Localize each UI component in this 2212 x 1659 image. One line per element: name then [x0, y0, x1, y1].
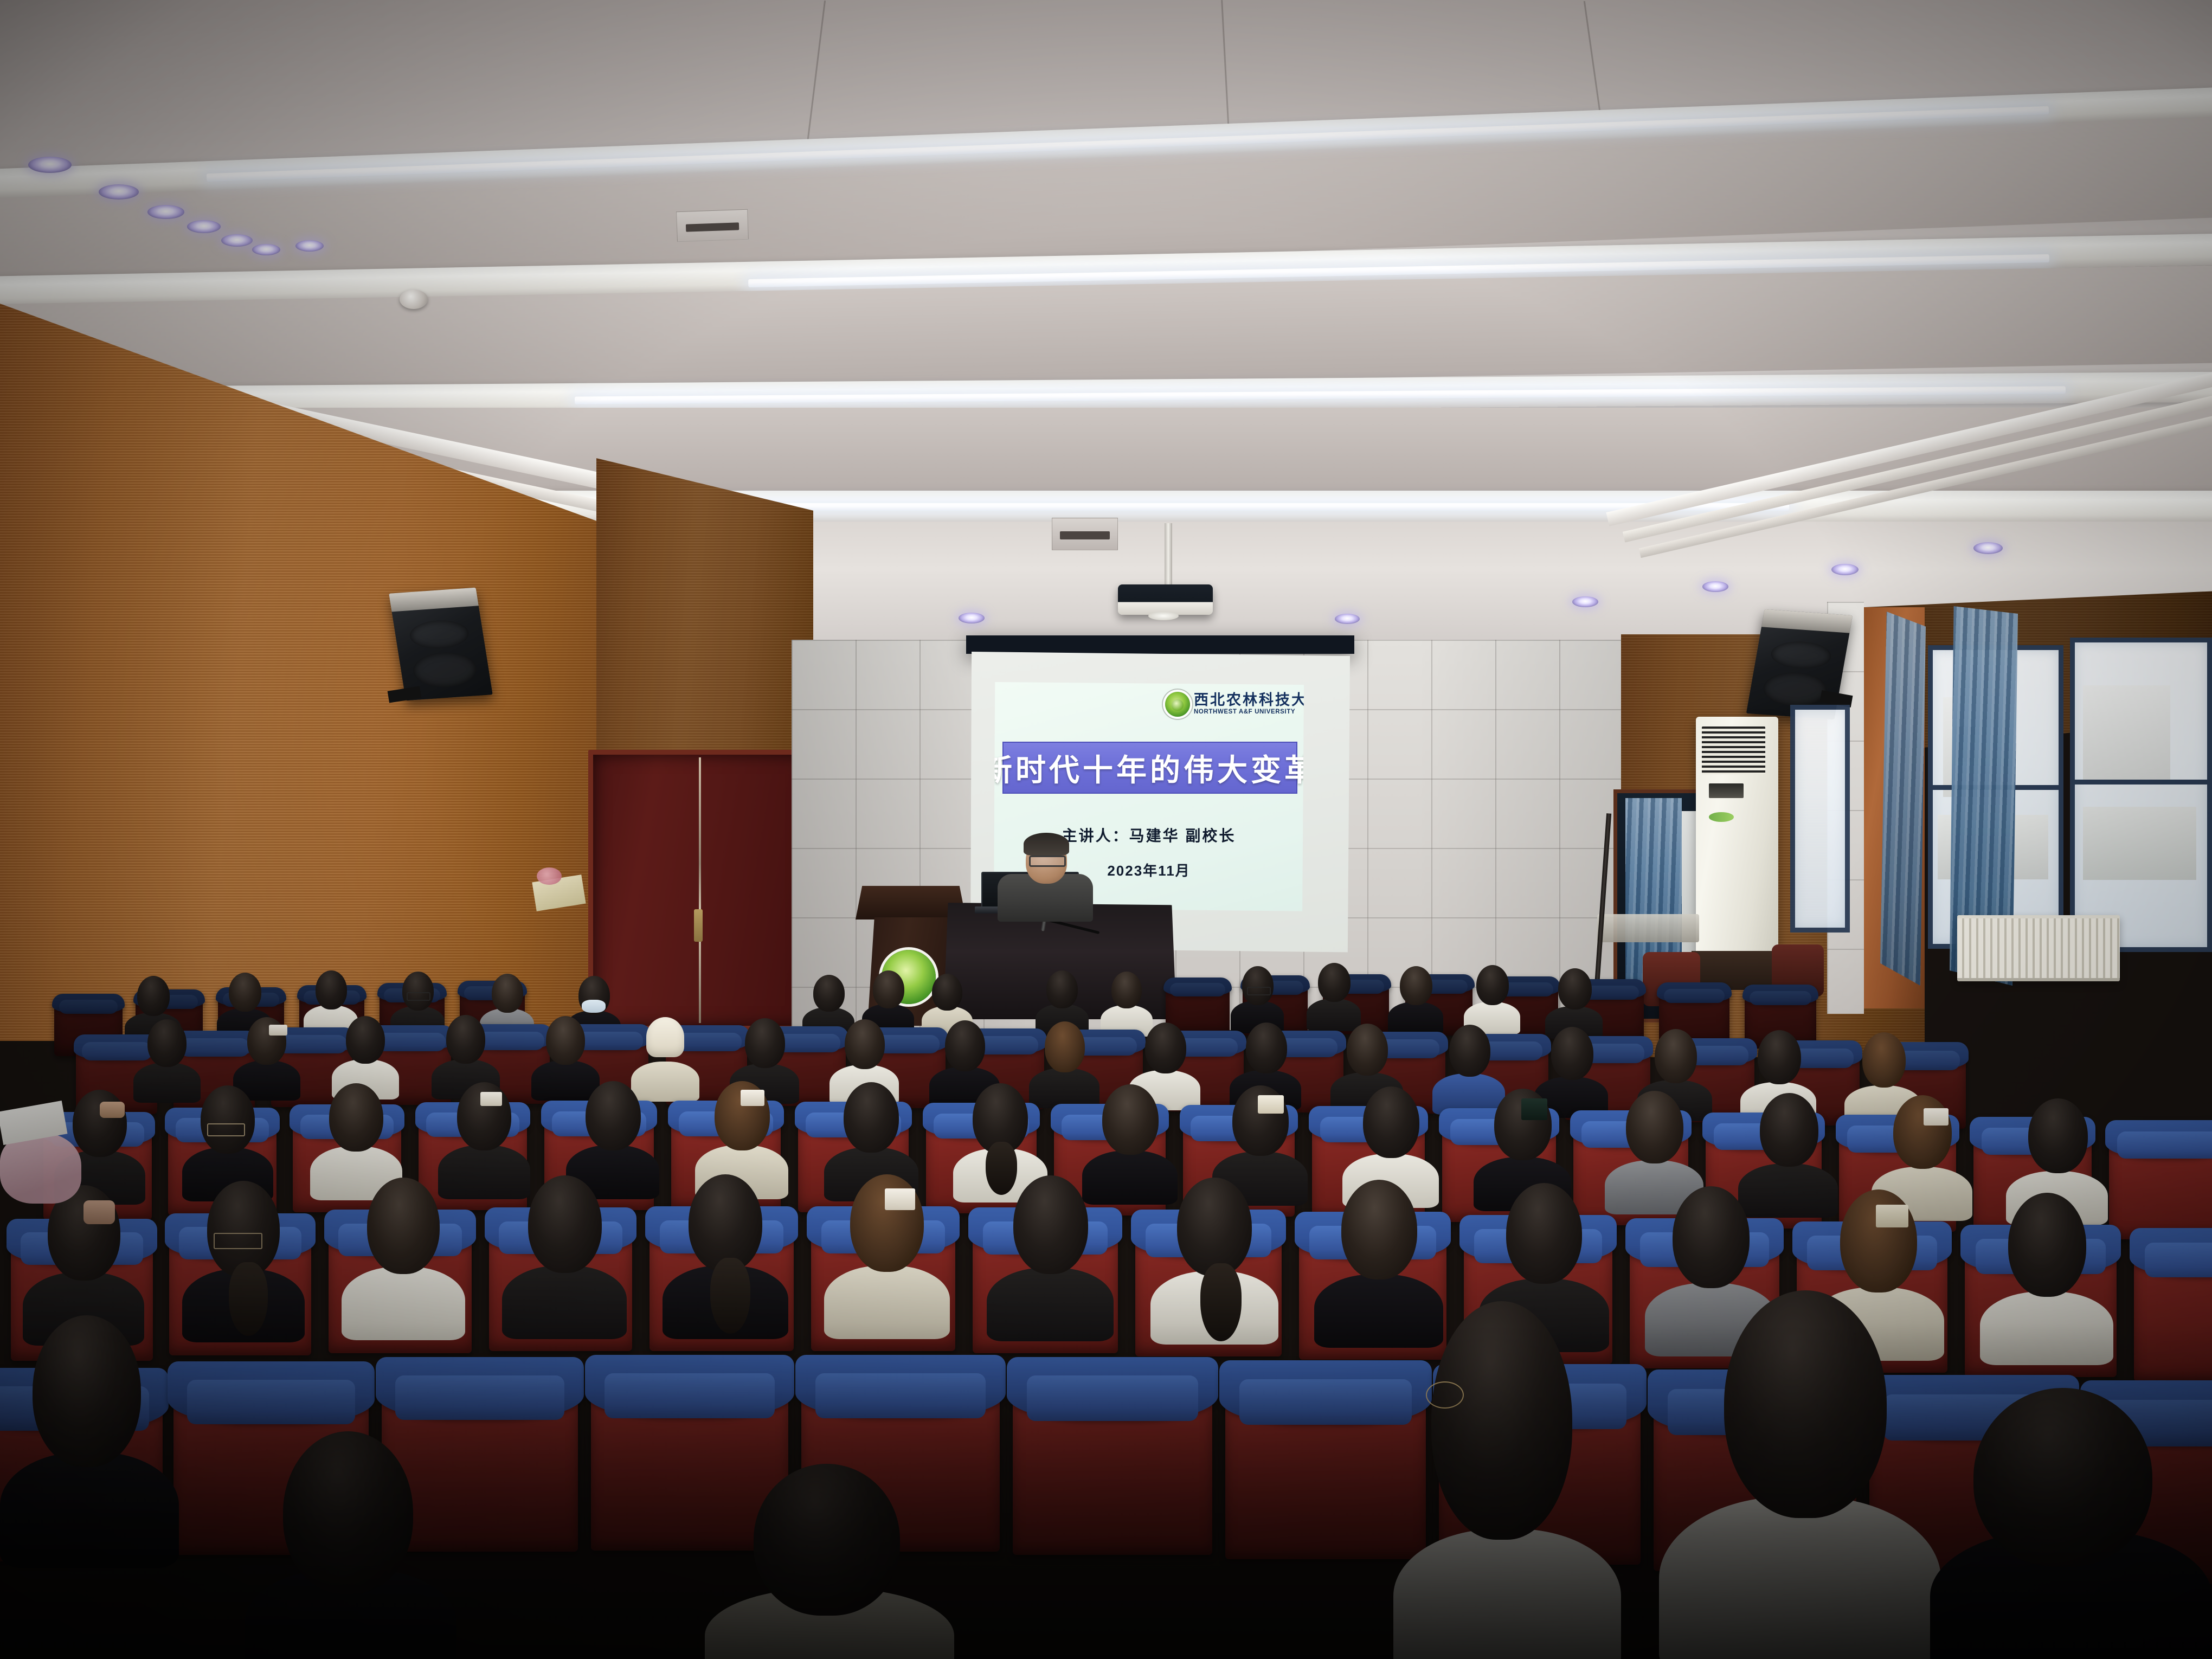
downlight-icon [1702, 581, 1728, 592]
equipment-cart [1597, 914, 1699, 942]
air-vent-icon [676, 209, 749, 242]
downlight-icon [28, 157, 72, 173]
presenter-figure [987, 824, 1101, 916]
audience-member [502, 1175, 627, 1336]
audience-member-foreground [1930, 1388, 2212, 1659]
air-conditioner-icon [1696, 717, 1778, 955]
window-right-c [1790, 705, 1850, 933]
downlight-icon [187, 220, 221, 233]
nwafu-green-emblem-icon [1165, 692, 1190, 717]
projector-lens-icon [1148, 612, 1179, 620]
audience-member [987, 1175, 1114, 1338]
smoke-detector-icon [400, 290, 428, 309]
downlight-icon [959, 613, 985, 623]
audience-member [663, 1174, 788, 1336]
door-side-flower [537, 867, 562, 885]
left-door[interactable] [588, 750, 809, 1031]
slide-title-band: 新时代十年的伟大变革 [1002, 742, 1297, 794]
downlight-icon [221, 234, 253, 247]
downlight-icon [147, 205, 184, 219]
downlight-icon [1572, 596, 1598, 607]
downlight-icon [1335, 614, 1360, 624]
audience-member [1150, 1178, 1278, 1341]
audience-member-foreground [0, 1315, 179, 1565]
loudspeaker-icon [389, 588, 493, 701]
radiator-icon [1957, 915, 2120, 981]
curtain-right-edge [1880, 612, 1926, 986]
presenter-glasses-icon [1029, 856, 1066, 867]
downlight-icon [1831, 564, 1859, 575]
audience-member [342, 1178, 465, 1337]
audience-member-foreground [1659, 1290, 1941, 1659]
audience-member [824, 1174, 950, 1336]
downlight-icon [1973, 542, 2003, 554]
projector-mount [1165, 523, 1172, 588]
window-right-b [2070, 638, 2212, 952]
audience-member [182, 1181, 305, 1339]
logo-name-cn: 西北农林科技大学 [1194, 693, 1304, 708]
air-vent-icon [1052, 518, 1118, 550]
audience-member-foreground [705, 1464, 954, 1659]
projector-icon [1118, 584, 1213, 615]
pink-bag-left [0, 1133, 81, 1204]
audience-member [1307, 963, 1361, 1030]
audience-member [1464, 965, 1520, 1033]
audience-member-foreground [1393, 1301, 1621, 1659]
audience-member-foreground [245, 1431, 456, 1659]
lecture-hall-photo: 西北农林科技大学 NORTHWEST A&F UNIVERSITY 新时代十年的… [0, 0, 2212, 1659]
logo-name-en: NORTHWEST A&F UNIVERSITY [1194, 709, 1304, 716]
seat-front-row [1013, 1366, 1212, 1555]
university-logo: 西北农林科技大学 NORTHWEST A&F UNIVERSITY [1165, 692, 1304, 717]
seat-row-4 [2134, 1235, 2212, 1381]
presenter-hair [1024, 833, 1069, 856]
downlight-icon [99, 184, 139, 200]
projection-screen-frame [966, 635, 1354, 654]
seat-row-3 [2109, 1126, 2212, 1239]
downlight-icon [295, 240, 324, 252]
slide-title: 新时代十年的伟大变革 [994, 746, 1304, 790]
downlight-icon [252, 244, 280, 255]
audience-member [1980, 1193, 2113, 1362]
